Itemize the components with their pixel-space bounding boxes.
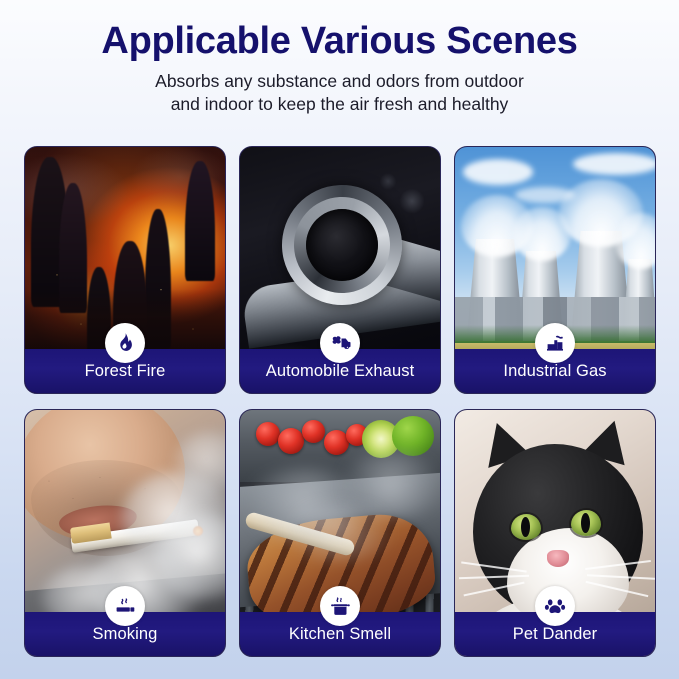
page-title: Applicable Various Scenes	[0, 22, 679, 62]
scene-card-grid: Forest Fire	[24, 146, 656, 657]
scenes-infographic: Applicable Various Scenes Absorbs any su…	[0, 0, 679, 679]
page-subtitle: Absorbs any substance and odors from out…	[0, 70, 679, 117]
header: Applicable Various Scenes Absorbs any su…	[0, 0, 679, 116]
scene-label: Smoking	[93, 625, 158, 644]
scene-card-smoking[interactable]: Smoking	[24, 409, 226, 657]
factory-icon	[535, 323, 575, 363]
scene-card-pet-dander[interactable]: Pet Dander	[454, 409, 656, 657]
scene-label: Pet Dander	[513, 625, 597, 644]
subtitle-line-1: Absorbs any substance and odors from out…	[0, 70, 679, 93]
car-exhaust-icon	[320, 323, 360, 363]
scene-card-kitchen-smell[interactable]: Kitchen Smell	[239, 409, 441, 657]
cooking-pot-icon	[320, 586, 360, 626]
scene-label: Automobile Exhaust	[266, 362, 415, 381]
cigarette-icon	[105, 586, 145, 626]
scene-card-forest-fire[interactable]: Forest Fire	[24, 146, 226, 394]
flame-icon	[105, 323, 145, 363]
scene-label: Forest Fire	[85, 362, 166, 381]
scene-label: Industrial Gas	[503, 362, 606, 381]
scene-card-industrial-gas[interactable]: Industrial Gas	[454, 146, 656, 394]
scene-label: Kitchen Smell	[289, 625, 391, 644]
scene-card-automobile-exhaust[interactable]: Automobile Exhaust	[239, 146, 441, 394]
subtitle-line-2: and indoor to keep the air fresh and hea…	[0, 93, 679, 116]
paw-print-icon	[535, 586, 575, 626]
